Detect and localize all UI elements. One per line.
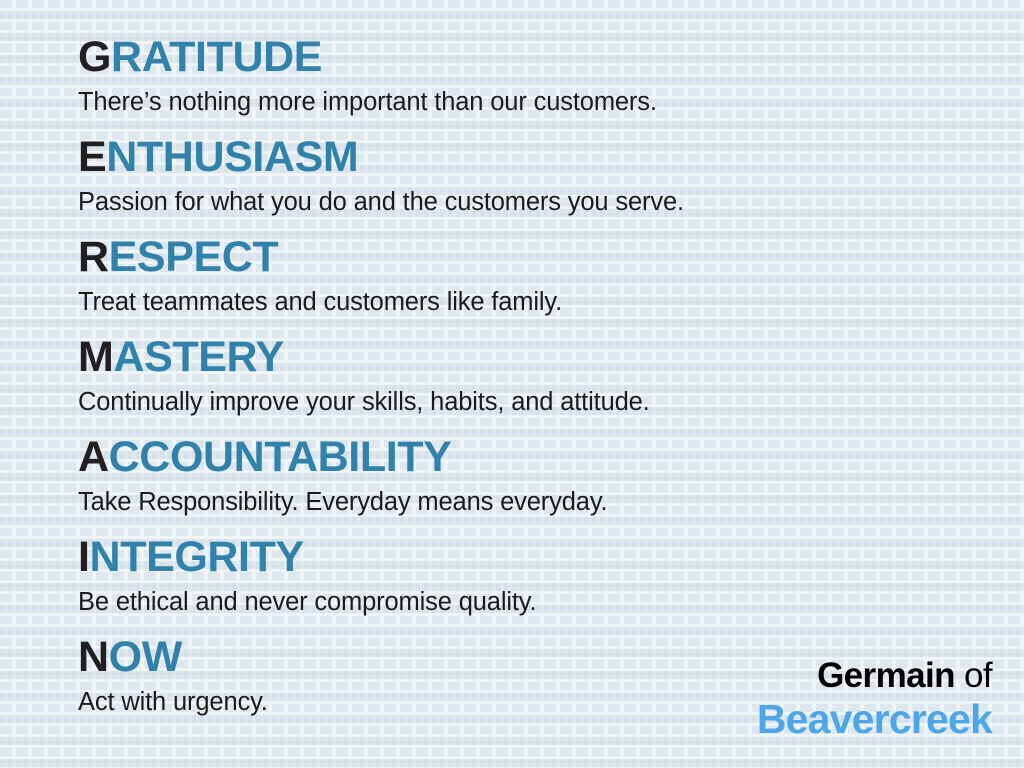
value-heading-remainder: NTEGRITY <box>90 533 304 581</box>
value-item-accountability: ACCOUNTABILITY Take Responsibility. Ever… <box>78 432 1008 532</box>
brand-connector-word: of <box>955 656 992 695</box>
value-item-gratitude: GRATITUDE There’s nothing more important… <box>78 32 1008 132</box>
value-heading-remainder: CCOUNTABILITY <box>109 433 452 481</box>
value-heading-remainder: OW <box>109 633 182 681</box>
value-description: Passion for what you do and the customer… <box>78 182 1008 220</box>
value-description: Treat teammates and customers like famil… <box>78 282 1008 320</box>
value-initial-letter: E <box>78 133 106 181</box>
value-heading-remainder: NTHUSIASM <box>106 133 358 181</box>
value-initial-letter: N <box>78 633 109 681</box>
value-initial-letter: A <box>78 433 109 481</box>
value-heading-remainder: ASTERY <box>113 333 283 381</box>
brand-dealer-name: Germain <box>817 656 955 695</box>
brand-logo-line-top: Germain of <box>757 656 992 696</box>
value-item-integrity: INTEGRITY Be ethical and never compromis… <box>78 532 1008 632</box>
brand-location-name: Beavercreek <box>757 696 992 742</box>
value-initial-letter: M <box>78 333 113 381</box>
value-item-respect: RESPECT Treat teammates and customers li… <box>78 232 1008 332</box>
value-initial-letter: G <box>78 33 111 81</box>
core-values-list: GRATITUDE There’s nothing more important… <box>78 32 1008 732</box>
value-heading: ACCOUNTABILITY <box>78 432 1008 482</box>
value-item-mastery: MASTERY Continually improve your skills,… <box>78 332 1008 432</box>
brand-logo: Germain of Beavercreek <box>757 656 992 742</box>
value-description: Continually improve your skills, habits,… <box>78 382 1008 420</box>
value-heading: GRATITUDE <box>78 32 1008 82</box>
value-description: There’s nothing more important than our … <box>78 82 1008 120</box>
value-heading-remainder: ESPECT <box>109 233 279 281</box>
value-description: Take Responsibility. Everyday means ever… <box>78 482 1008 520</box>
value-item-enthusiasm: ENTHUSIASM Passion for what you do and t… <box>78 132 1008 232</box>
value-heading-remainder: RATITUDE <box>111 33 322 81</box>
value-heading: ENTHUSIASM <box>78 132 1008 182</box>
values-poster: GRATITUDE There’s nothing more important… <box>0 0 1024 768</box>
value-heading: INTEGRITY <box>78 532 1008 582</box>
value-initial-letter: I <box>78 533 90 581</box>
value-heading: MASTERY <box>78 332 1008 382</box>
value-initial-letter: R <box>78 233 109 281</box>
value-heading: RESPECT <box>78 232 1008 282</box>
value-description: Be ethical and never compromise quality. <box>78 582 1008 620</box>
